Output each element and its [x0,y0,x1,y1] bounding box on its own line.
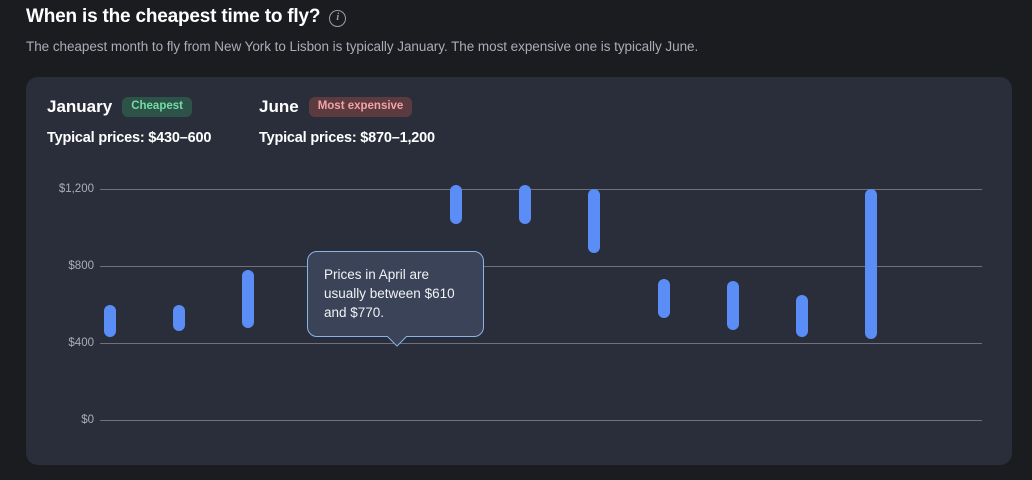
chart-bar-jun[interactable] [450,185,462,224]
chart-gridline [100,189,982,190]
chart-bar-mar[interactable] [242,270,254,328]
tooltip-arrow [385,336,407,347]
info-icon[interactable]: i [329,10,346,27]
chart-bar-oct[interactable] [727,281,739,329]
chart-gridline [100,343,982,344]
page-root: When is the cheapest time to fly? i The … [0,0,1032,480]
chart-bar-dec[interactable] [865,189,877,339]
y-axis-tick-label: $400 [26,337,94,349]
chart-tooltip-text: Prices in April are usually between $610… [324,267,455,320]
chart-bar-nov[interactable] [796,295,808,337]
y-axis-tick-label: $0 [26,414,94,426]
page-subtitle: The cheapest month to fly from New York … [26,39,1012,54]
chart-bar-jul[interactable] [519,185,531,224]
y-axis-tick-label: $1,200 [26,183,94,195]
chart-bar-sep[interactable] [658,279,670,318]
price-chart-card: January Cheapest Typical prices: $430–60… [26,77,1012,465]
chart-bar-jan[interactable] [104,305,116,338]
title-row: When is the cheapest time to fly? i [26,6,1012,28]
chart-gridline [100,266,982,267]
chart-gridline [100,420,982,421]
chart-tooltip: Prices in April are usually between $610… [307,251,484,337]
chart-bar-feb[interactable] [173,305,185,332]
page-title: When is the cheapest time to fly? [26,6,320,28]
chart-bar-aug[interactable] [588,189,600,253]
y-axis-tick-label: $800 [26,260,94,272]
page-header: When is the cheapest time to fly? i The … [26,6,1012,54]
price-range-chart: $0$400$800$1,200JanFebMarAprMayJunJulAug… [26,77,1012,465]
